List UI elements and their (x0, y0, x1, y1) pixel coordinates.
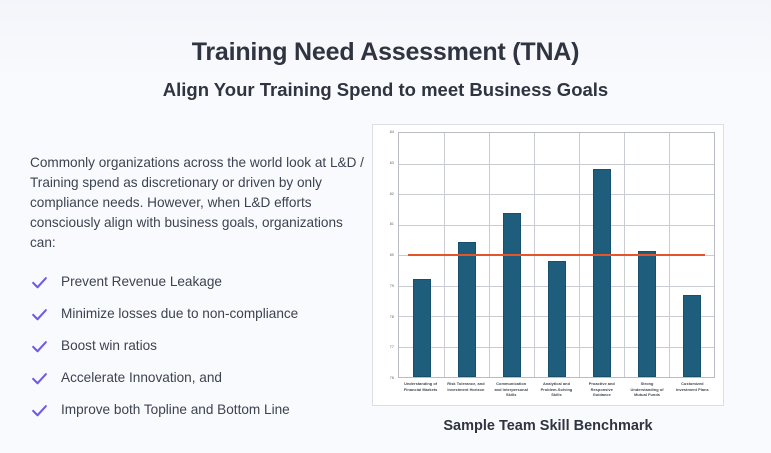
bar (593, 169, 611, 377)
plot-area (398, 132, 715, 378)
list-item-label: Boost win ratios (61, 338, 157, 354)
list-item: Prevent Revenue Leakage (30, 273, 372, 292)
list-item: Improve both Topline and Bottom Line (30, 401, 372, 420)
y-tick-label: 80 (390, 253, 394, 257)
y-tick-label: 82 (390, 192, 394, 196)
x-tick-label: Understanding ofFinancial Markets (398, 381, 443, 392)
list-item-label: Minimize losses due to non-compliance (61, 306, 298, 322)
y-tick-label: 79 (390, 284, 394, 288)
reference-line (408, 254, 704, 256)
chart-inner: 767778798081828384 Understanding ofFinan… (379, 132, 715, 399)
bar (413, 279, 431, 377)
bar (638, 251, 656, 377)
bar (683, 295, 701, 377)
list-item: Boost win ratios (30, 337, 372, 356)
x-tick-label: Risk Tolerance, andInvestment Horizon (443, 381, 488, 392)
y-tick-label: 78 (390, 315, 394, 319)
intro-paragraph: Commonly organizations across the world … (30, 153, 364, 254)
bar (548, 261, 566, 377)
check-icon (30, 273, 49, 292)
y-tick-label: 83 (390, 161, 394, 165)
chart-panel: 767778798081828384 Understanding ofFinan… (372, 124, 724, 406)
x-axis: Understanding ofFinancial MarketsRisk To… (398, 381, 715, 409)
check-icon (30, 369, 49, 388)
y-tick-label: 77 (390, 345, 394, 349)
page-subtitle: Align Your Training Spend to meet Busine… (0, 79, 771, 100)
list-item-label: Improve both Topline and Bottom Line (61, 402, 290, 418)
slide-body: Commonly organizations across the world … (0, 124, 771, 434)
check-icon (30, 305, 49, 324)
list-item: Minimize losses due to non-compliance (30, 305, 372, 324)
right-chart-column: 767778798081828384 Understanding ofFinan… (372, 124, 771, 434)
benefits-list: Prevent Revenue LeakageMinimize losses d… (30, 273, 372, 420)
y-axis: 767778798081828384 (379, 132, 396, 378)
x-tick-label: CustomizedInvestment Plans (670, 381, 715, 392)
chart-caption: Sample Team Skill Benchmark (372, 418, 724, 434)
x-tick-label: StrongUnderstanding ofMutual Funds (624, 381, 669, 398)
slide-header: Training Need Assessment (TNA) Align You… (0, 0, 771, 100)
list-item-label: Accelerate Innovation, and (61, 370, 222, 386)
page-title: Training Need Assessment (TNA) (0, 38, 771, 67)
y-tick-label: 84 (390, 130, 394, 134)
check-icon (30, 337, 49, 356)
left-content-column: Commonly organizations across the world … (0, 124, 372, 433)
list-item-label: Prevent Revenue Leakage (61, 274, 222, 290)
x-tick-label: Analytical andProblem-SolvingSkills (534, 381, 579, 398)
bar (503, 213, 521, 377)
x-tick-label: Communicationand InterpersonalSkills (489, 381, 534, 398)
x-tick-label: Proactive andResponsiveGuidance (579, 381, 624, 398)
list-item: Accelerate Innovation, and (30, 369, 372, 388)
bar (458, 242, 476, 377)
y-tick-label: 76 (390, 376, 394, 380)
check-icon (30, 401, 49, 420)
y-tick-label: 81 (390, 222, 394, 226)
